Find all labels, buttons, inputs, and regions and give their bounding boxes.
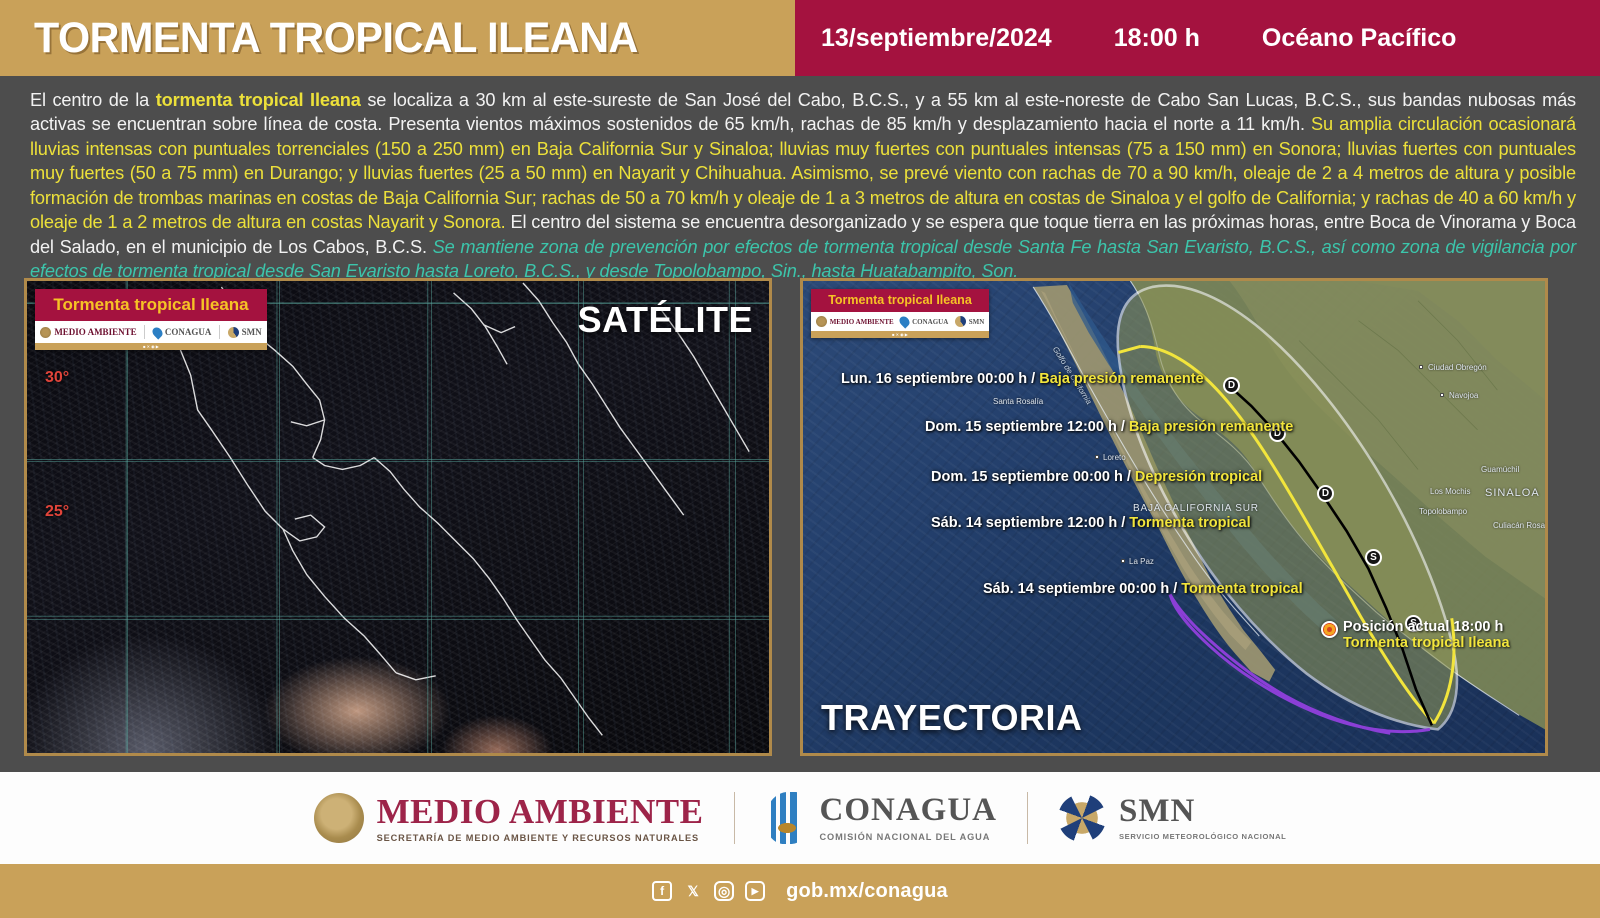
national-seal-icon: [314, 793, 364, 843]
map-place-guamuchil: Guamúchil: [1481, 465, 1519, 474]
instagram-icon[interactable]: ◎: [714, 881, 734, 901]
smn-spiral-icon: [1058, 794, 1106, 842]
youtube-icon[interactable]: ▶: [745, 881, 765, 901]
traj-date-2: Dom. 15 septiembre 00:00 h: [931, 469, 1123, 485]
map-place-santa-rosalia: Santa Rosalía: [993, 397, 1043, 406]
header-time: 18:00 h: [1114, 24, 1200, 53]
x-icon[interactable]: 𝕏: [683, 881, 703, 901]
smn-label: SMN: [242, 327, 262, 337]
map-place-topolobampo: Topolobampo: [1419, 507, 1467, 516]
track-node-s-1: S: [1365, 549, 1382, 566]
bottom-social-bar: f 𝕏 ◎ ▶ gob.mx/conagua: [0, 864, 1600, 918]
map-place-los-mochis: Los Mochis: [1430, 487, 1470, 496]
national-seal-icon: [816, 316, 827, 327]
spiral-icon: [228, 327, 239, 338]
page-title: TORMENTA TROPICAL ILEANA: [34, 14, 638, 63]
footer-conagua: CONAGUA COMISIÓN NACIONAL DEL AGUA: [765, 792, 998, 844]
header-date: 13/septiembre/2024: [821, 24, 1052, 53]
conagua-text-block: CONAGUA COMISIÓN NACIONAL DEL AGUA: [820, 794, 998, 842]
traj-type-4: Tormenta tropical: [1181, 581, 1302, 597]
footer-smn: SMN SERVICIO METEOROLÓGICO NACIONAL: [1058, 794, 1286, 842]
current-position-label: Posición actual 18:00 hTormenta tropical…: [1343, 619, 1510, 651]
national-seal-icon: [40, 327, 51, 338]
traj-sep-4: /: [1169, 581, 1181, 597]
medio-ambiente-text-block: MEDIO AMBIENTE SECRETARÍA DE MEDIO AMBIE…: [377, 794, 704, 843]
traj-type-3: Tormenta tropical: [1129, 515, 1250, 531]
traj-date-0: Lun. 16 septiembre 00:00 h: [841, 371, 1027, 387]
trajectory-label-4: Sáb. 14 septiembre 00:00 h / Tormenta tr…: [983, 581, 1303, 597]
current-position-type: Tormenta tropical Ileana: [1343, 635, 1510, 651]
traj-sep-2: /: [1123, 469, 1135, 485]
satellite-card-title: Tormenta tropical Ileana: [35, 289, 267, 321]
footer-logos: MEDIO AMBIENTE SECRETARÍA DE MEDIO AMBIE…: [0, 772, 1600, 864]
infographic-root: TORMENTA TROPICAL ILEANA 13/septiembre/2…: [0, 0, 1600, 918]
traj-type-1: Baja presión remanente: [1129, 419, 1293, 435]
facebook-icon[interactable]: f: [652, 881, 672, 901]
map-place-ciudad-obregon: Ciudad Obregón: [1428, 363, 1487, 372]
traj-date-1: Dom. 15 septiembre 12:00 h: [925, 419, 1117, 435]
water-drop-icon: [898, 314, 912, 328]
card-social-bar: ■ ✕ ◉ ▶: [35, 343, 267, 350]
traj-sep-1: /: [1117, 419, 1129, 435]
traj-type-0: Baja presión remanente: [1039, 371, 1203, 387]
traj-sep-3: /: [1117, 515, 1129, 531]
map-place-bcs: BAJA CALIFORNIA SUR: [1133, 503, 1259, 514]
medio-ambiente-title: MEDIO AMBIENTE: [377, 794, 704, 829]
smn-logo: SMN: [955, 316, 985, 327]
medio-ambiente-label: MEDIO AMBIENTE: [830, 318, 894, 326]
trajectory-card-title: Tormenta tropical Ileana: [811, 289, 989, 312]
spiral-icon: [955, 316, 966, 327]
smn-text-block: SMN SERVICIO METEOROLÓGICO NACIONAL: [1119, 795, 1286, 841]
track-node-d-3: D: [1317, 485, 1334, 502]
header-bar: TORMENTA TROPICAL ILEANA 13/septiembre/2…: [0, 0, 1600, 76]
trajectory-panel-title: TRAYECTORIA: [821, 697, 1083, 739]
satellite-card-logos: MEDIO AMBIENTE CONAGUA SMN: [35, 321, 267, 343]
trajectory-panel: Ciudad Obregón Navojoa Guamúchil SINALOA…: [800, 278, 1548, 756]
map-place-culiacan: Culiacán Rosales: [1493, 521, 1548, 530]
map-dot: [1440, 393, 1444, 397]
trajectory-branding-card: Tormenta tropical Ileana MEDIO AMBIENTE …: [811, 289, 989, 338]
traj-date-4: Sáb. 14 septiembre 00:00 h: [983, 581, 1169, 597]
current-position-time: Posición actual 18:00 h: [1343, 619, 1503, 635]
map-dot: [1121, 559, 1125, 563]
medio-ambiente-label: MEDIO AMBIENTE: [54, 327, 136, 337]
lat-label-30: 30°: [45, 369, 69, 387]
trajectory-label-3: Sáb. 14 septiembre 12:00 h / Tormenta tr…: [931, 515, 1251, 531]
conagua-wave-icon: [765, 792, 807, 844]
satellite-panel: 30° 25° SATÉLITE Tormenta tropical Ilean…: [24, 278, 772, 756]
smn-title: SMN: [1119, 795, 1286, 828]
divider: [144, 325, 145, 339]
water-drop-icon: [150, 325, 164, 339]
footer-divider-2: [1027, 792, 1028, 844]
trajectory-label-1: Dom. 15 septiembre 12:00 h / Baja presió…: [925, 419, 1293, 435]
medio-ambiente-subtitle: SECRETARÍA DE MEDIO AMBIENTE Y RECURSOS …: [377, 833, 704, 843]
map-place-loreto: Loreto: [1103, 453, 1126, 462]
bulletin-text: El centro de la tormenta tropical Ileana…: [0, 76, 1600, 292]
smn-label: SMN: [969, 318, 985, 326]
trajectory-card-logos: MEDIO AMBIENTE CONAGUA SMN: [811, 312, 989, 331]
current-position-marker: [1321, 621, 1338, 638]
conagua-logo: CONAGUA: [900, 316, 948, 327]
medio-ambiente-logo: MEDIO AMBIENTE: [40, 327, 136, 338]
card-social-bar: ■ ✕ ◉ ▶: [811, 331, 989, 338]
trajectory-label-2: Dom. 15 septiembre 00:00 h / Depresión t…: [931, 469, 1262, 485]
conagua-logo: CONAGUA: [153, 327, 212, 338]
traj-date-3: Sáb. 14 septiembre 12:00 h: [931, 515, 1117, 531]
conagua-subtitle: COMISIÓN NACIONAL DEL AGUA: [820, 832, 998, 842]
conagua-label: CONAGUA: [912, 318, 948, 326]
track-node-d-1: D: [1223, 377, 1240, 394]
header-title-box: TORMENTA TROPICAL ILEANA: [0, 0, 795, 76]
trajectory-label-0: Lun. 16 septiembre 00:00 h / Baja presió…: [841, 371, 1204, 387]
smn-subtitle: SERVICIO METEOROLÓGICO NACIONAL: [1119, 832, 1286, 841]
panels-row: 30° 25° SATÉLITE Tormenta tropical Ilean…: [0, 278, 1600, 756]
smn-logo: SMN: [228, 327, 262, 338]
bulletin-storm-name: tormenta tropical Ileana: [156, 90, 361, 110]
medio-ambiente-logo: MEDIO AMBIENTE: [816, 316, 894, 327]
social-icons-mini: ■ ✕ ◉ ▶: [143, 344, 159, 349]
map-place-navojoa: Navojoa: [1449, 391, 1478, 400]
header-meta: 13/septiembre/2024 18:00 h Océano Pacífi…: [795, 0, 1600, 76]
website-url[interactable]: gob.mx/conagua: [786, 880, 948, 903]
satellite-panel-title: SATÉLITE: [578, 299, 753, 341]
map-place-la-paz: La Paz: [1129, 557, 1154, 566]
header-basin: Océano Pacífico: [1262, 24, 1457, 53]
traj-type-2: Depresión tropical: [1135, 469, 1262, 485]
footer-divider-1: [734, 792, 735, 844]
conagua-label: CONAGUA: [165, 327, 212, 337]
satellite-coastline-overlay: [27, 281, 769, 755]
bulletin-seg-1: El centro de la: [30, 90, 156, 110]
map-dot: [1419, 365, 1423, 369]
lat-label-25: 25°: [45, 503, 69, 521]
satellite-branding-card: Tormenta tropical Ileana MEDIO AMBIENTE …: [35, 289, 267, 350]
map-dot: [1095, 455, 1099, 459]
conagua-title: CONAGUA: [820, 794, 998, 827]
map-place-sinaloa: SINALOA: [1485, 487, 1540, 499]
traj-sep-0: /: [1027, 371, 1039, 387]
footer-medio-ambiente: MEDIO AMBIENTE SECRETARÍA DE MEDIO AMBIE…: [314, 793, 704, 843]
social-icons-mini: ■ ✕ ◉ ▶: [892, 332, 908, 337]
divider: [219, 325, 220, 339]
